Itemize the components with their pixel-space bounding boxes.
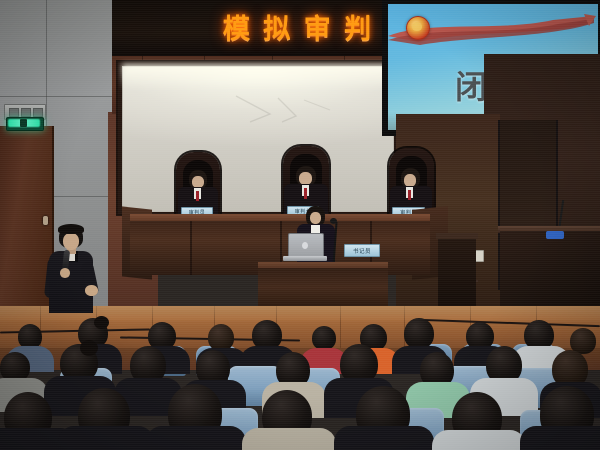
audience-head (208, 324, 234, 351)
door-handle-icon[interactable] (43, 216, 48, 225)
speaker-hair (58, 224, 84, 234)
speaker-face (63, 233, 79, 250)
podium-blue-item (546, 231, 564, 239)
side-cabinet (438, 236, 476, 314)
audience-head (404, 318, 434, 349)
judge-left-tie (196, 191, 199, 201)
side-cabinet-top (436, 233, 478, 239)
backdrop-faint-marking (230, 92, 340, 126)
laptop-logo-icon (302, 242, 308, 249)
judge-center-tie (304, 188, 307, 199)
audience-seating (0, 316, 600, 450)
microphone-icon (330, 218, 337, 224)
backdrop-uplight (122, 64, 392, 90)
emblem-inner-detail (412, 22, 422, 31)
clerk-face (310, 212, 321, 224)
judge-right-tie (408, 190, 411, 200)
nameplate-clerk: 书记员 (344, 244, 380, 257)
photo-scene: 模 拟 审 判 闭庭 (0, 0, 600, 450)
speaker-right-hand (85, 285, 98, 296)
running-man-icon (20, 119, 27, 127)
audience-head (312, 326, 336, 350)
laptop-keyboard (283, 256, 327, 261)
speaker-left-hand (60, 268, 70, 278)
